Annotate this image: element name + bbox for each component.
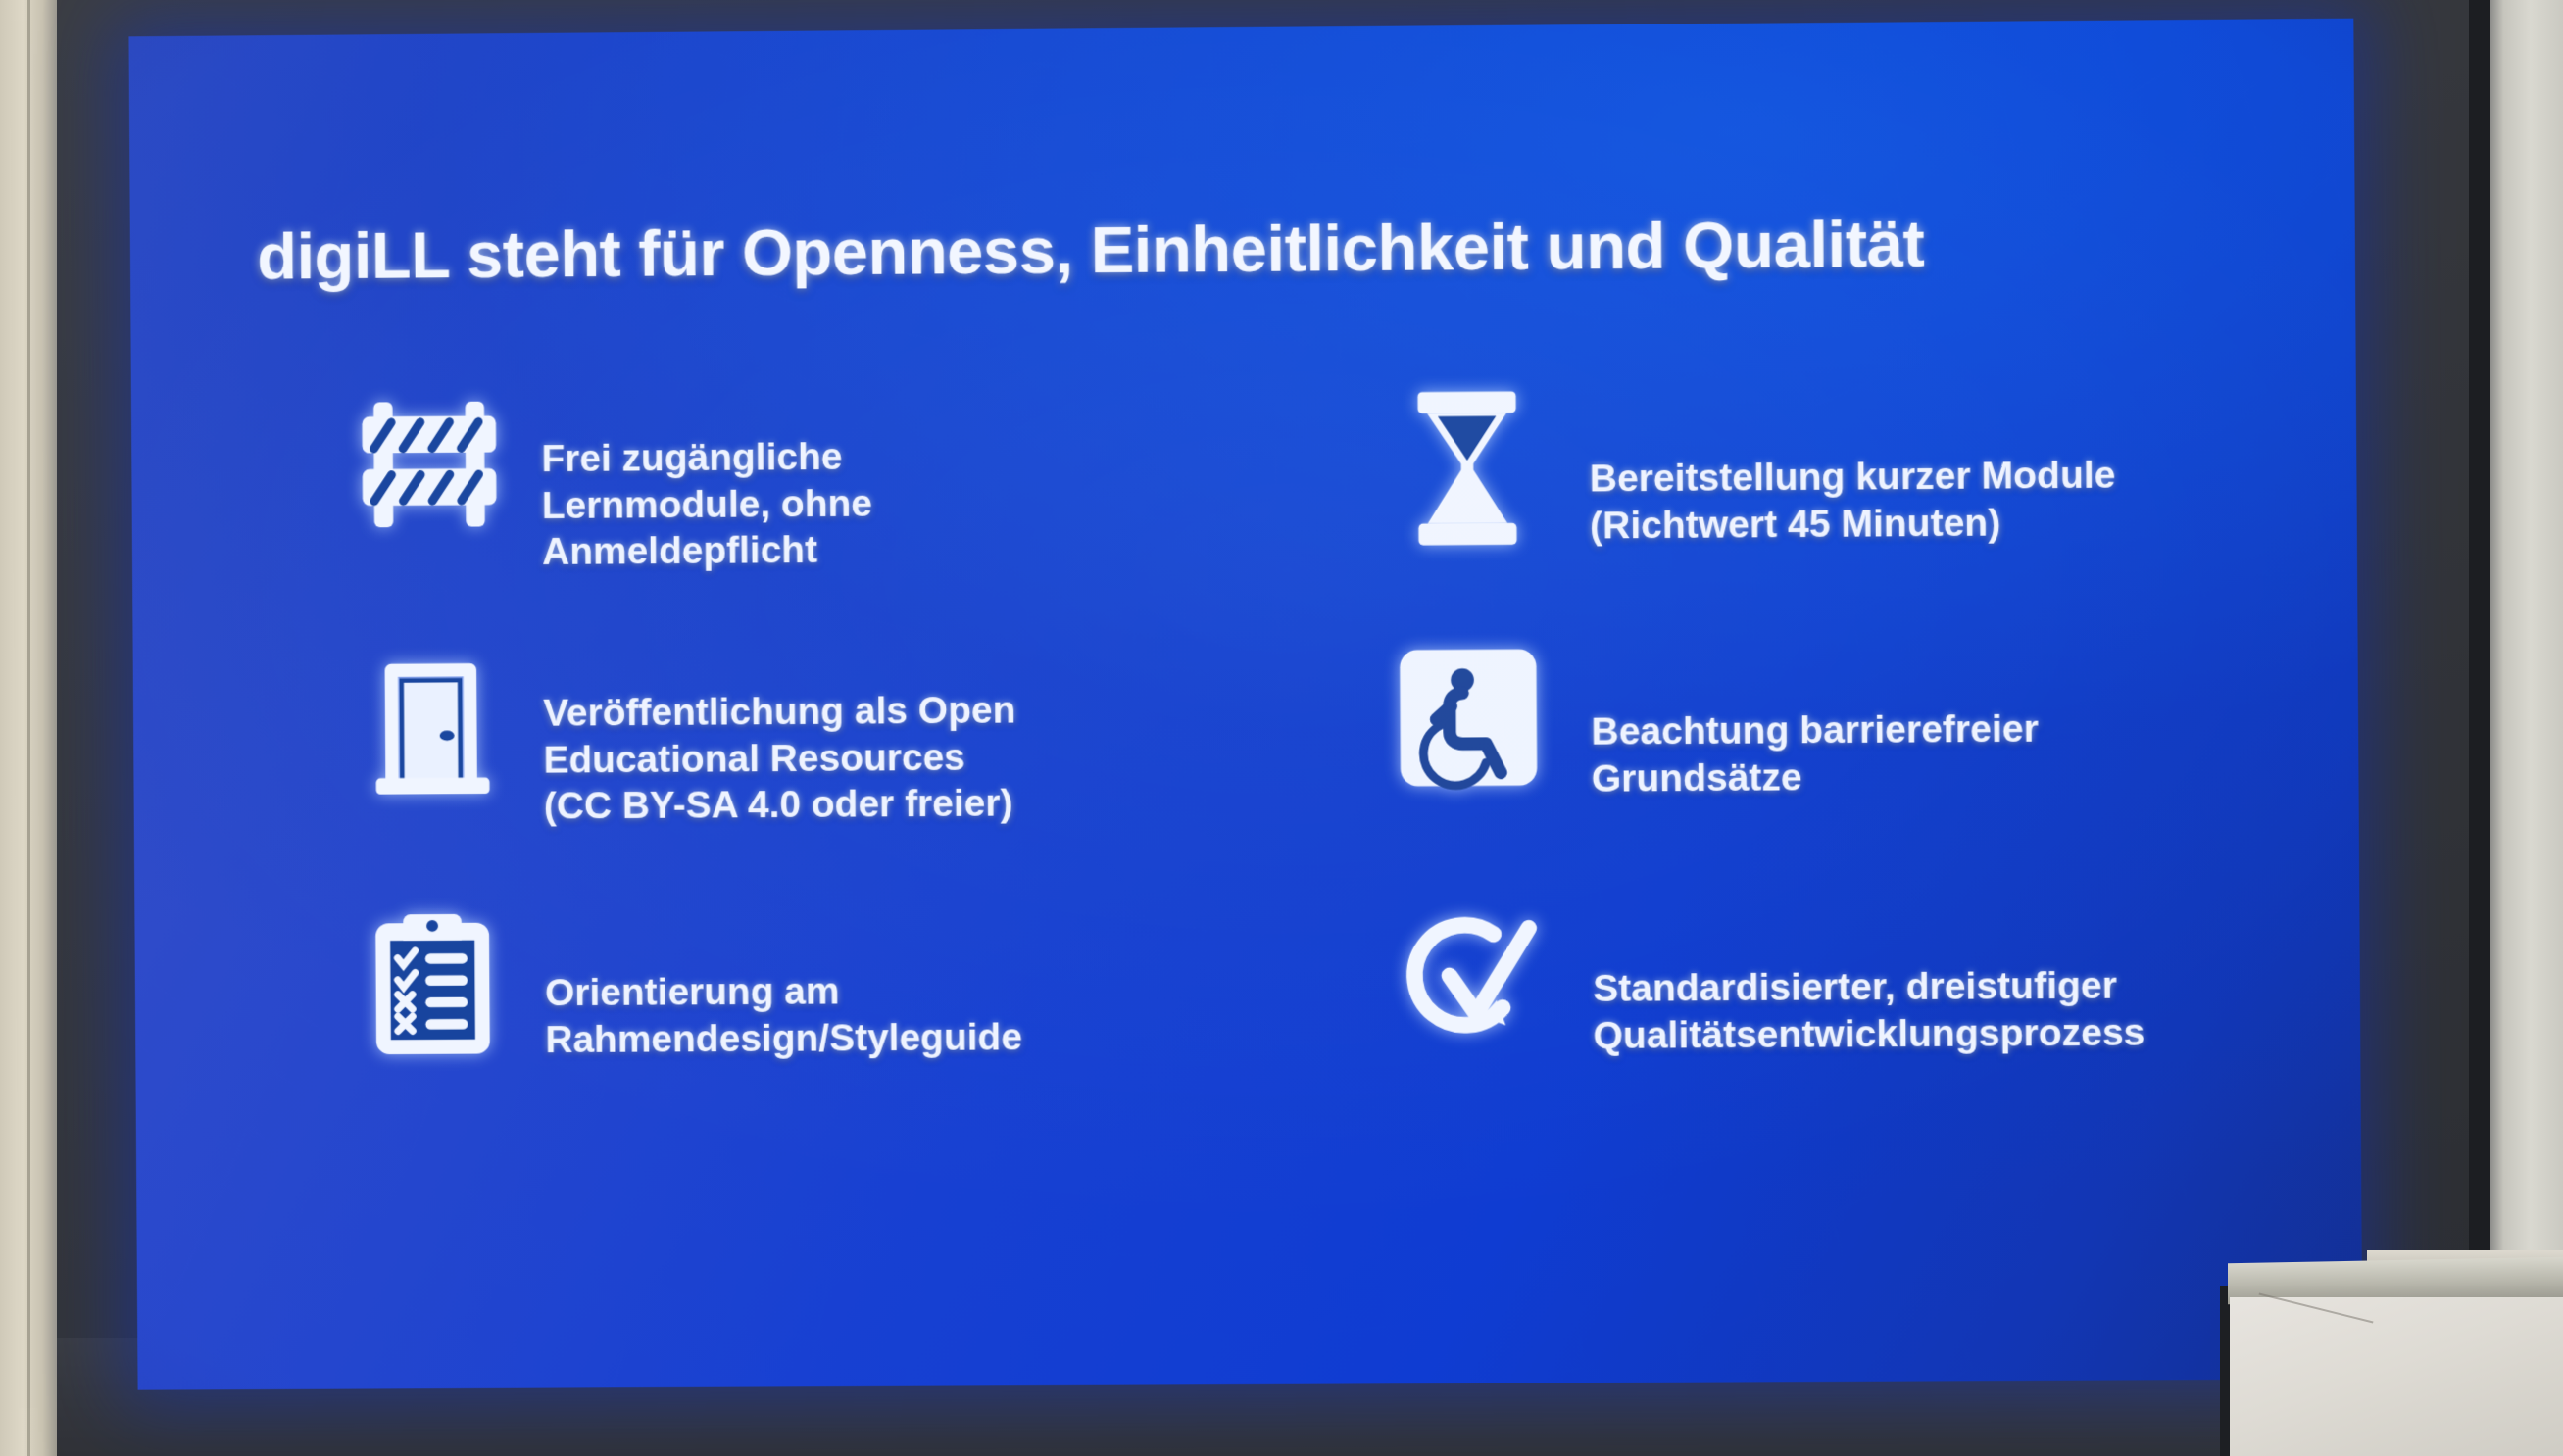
feature-text: Standardisierter, dreistufiger Qualitäts… — [1593, 887, 2363, 1059]
feature-line: Frei zugängliche — [541, 430, 1334, 482]
feature-line: (Richtwert 45 Minuten) — [1590, 497, 2363, 549]
feature-line: Qualitätsentwicklungsprozess — [1593, 1008, 2362, 1059]
wall-seam — [27, 0, 30, 1456]
feature-item-qualitaetsentwicklungsprozess: Standardisierter, dreistufiger Qualitäts… — [1347, 887, 2362, 1150]
slide-title: digiLL steht für Openness, Einheitlichke… — [257, 207, 1924, 295]
feature-line: Grundsätze — [1592, 751, 2363, 802]
feature-line: Veröffentlichung als Open — [543, 685, 1336, 737]
room-photo: digiLL steht für Openness, Einheitlichke… — [0, 0, 2563, 1456]
clipboard-checklist-icon — [320, 898, 545, 1060]
feature-item-frei-zugaengliche-lernmodule: Frei zugängliche Lernmodule, ohne Anmeld… — [317, 379, 1336, 643]
cycle-check-icon — [1347, 892, 1593, 1050]
feature-text: Beachtung barrierefreier Grundsätze — [1591, 629, 2363, 802]
feature-column-right: Bereitstellung kurzer Module (Richtwert … — [1344, 372, 2363, 1150]
feature-line: Rahmendesign/Styleguide — [545, 1012, 1338, 1063]
right-wall — [2490, 0, 2563, 1456]
feature-item-beachtung-barrierefreier: Beachtung barrierefreier Grundsätze — [1346, 629, 2363, 893]
feature-line: (CC BY-SA 4.0 oder freier) — [544, 779, 1337, 831]
feature-text: Bereitstellung kurzer Module (Richtwert … — [1589, 372, 2362, 550]
flipchart-paper — [2230, 1297, 2563, 1456]
hourglass-icon — [1344, 377, 1590, 546]
left-wall — [0, 0, 57, 1456]
feature-line: Beachtung barrierefreier — [1591, 704, 2362, 755]
wheelchair-accessibility-icon — [1346, 635, 1592, 792]
projected-slide: digiLL steht für Openness, Einheitlichke… — [128, 19, 2362, 1390]
feature-item-veroeffentlichung-oer: Veröffentlichung als Open Educational Re… — [319, 636, 1338, 898]
feature-line: Anmeldepflicht — [542, 523, 1335, 575]
feature-text: Frei zugängliche Lernmodule, ohne Anmeld… — [541, 379, 1335, 575]
feature-line: Lernmodule, ohne — [542, 477, 1335, 529]
feature-line: Standardisierter, dreistufiger — [1593, 961, 2362, 1012]
feature-text: Veröffentlichung als Open Educational Re… — [543, 636, 1337, 830]
road-barrier-icon — [317, 385, 542, 533]
flipchart-board — [2220, 1250, 2563, 1456]
feature-line: Educational Resources — [543, 732, 1336, 784]
open-door-icon — [319, 642, 544, 800]
feature-text: Orientierung am Rahmendesign/Styleguide — [544, 893, 1338, 1063]
feature-item-orientierung-styleguide: Orientierung am Rahmendesign/Styleguide — [320, 893, 1339, 1155]
feature-item-bereitstellung-kurzer-module: Bereitstellung kurzer Module (Richtwert … — [1344, 372, 2363, 637]
feature-line: Bereitstellung kurzer Module — [1590, 451, 2363, 503]
feature-column-left: Frei zugängliche Lernmodule, ohne Anmeld… — [317, 379, 1339, 1155]
bezel-dark-edge — [2469, 0, 2490, 1456]
feature-line: Orientierung am — [545, 965, 1338, 1016]
